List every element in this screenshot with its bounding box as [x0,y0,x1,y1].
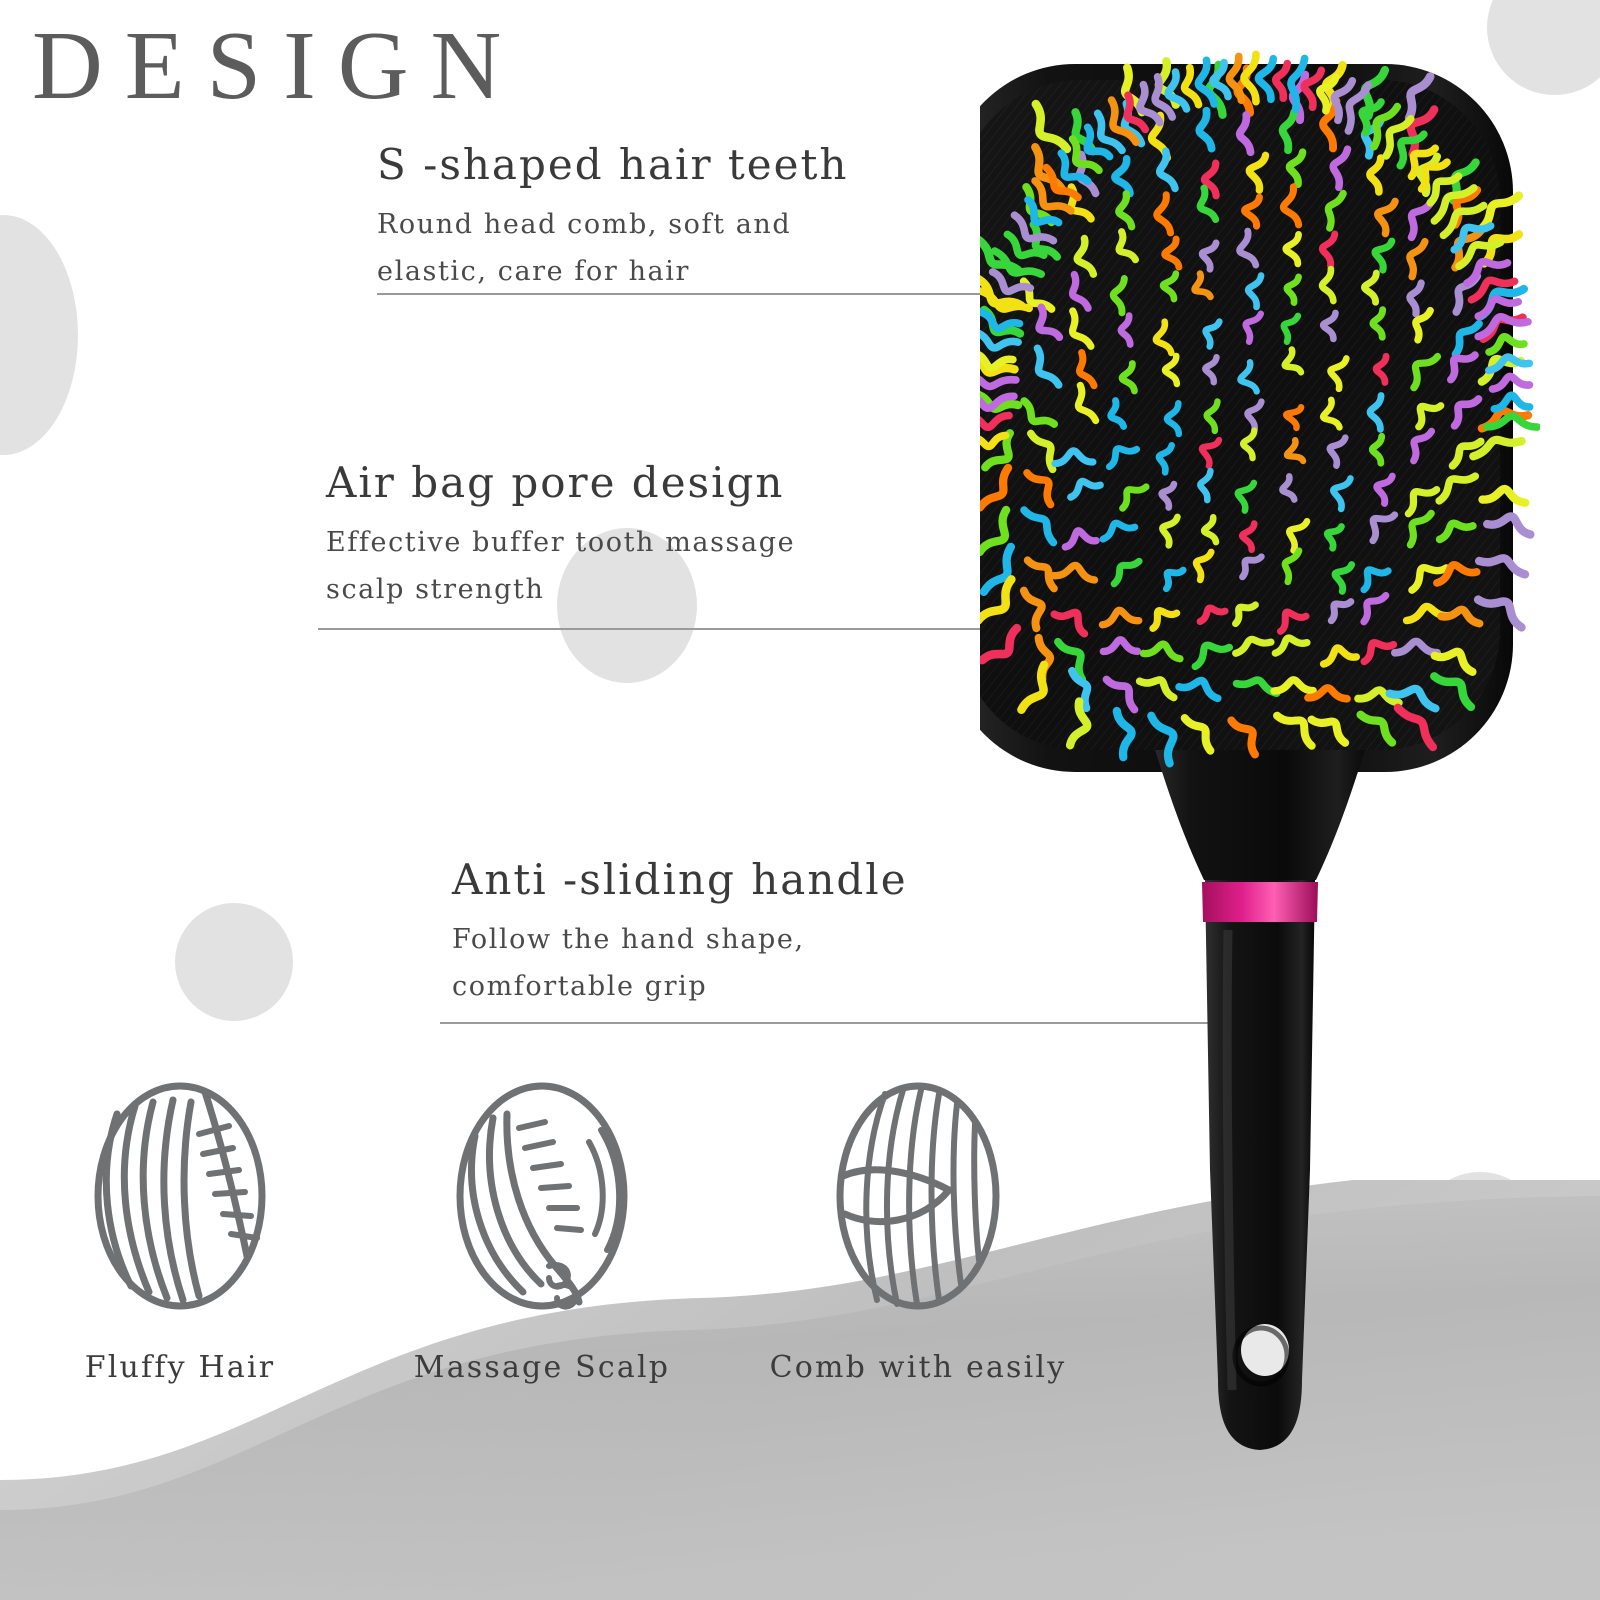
fluffy-hair-icon [87,1078,273,1314]
feature-block-anti-sliding-handle: Anti -sliding handle Follow the hand sha… [452,855,908,1010]
page-title: DESIGN [32,17,523,115]
benefit-label: Fluffy Hair [0,1350,360,1385]
comb-easily-icon [825,1078,1011,1314]
benefits-row: Fluffy Hair [0,1078,1160,1418]
handle-highlight [1227,930,1232,1390]
feature-block-air-bag-pore: Air bag pore design Effective buffer too… [326,458,795,613]
decorative-circle [175,903,293,1021]
feature-title: S -shaped hair teeth [377,140,848,189]
feature-title: Anti -sliding handle [452,855,908,904]
feature-description: Effective buffer tooth massage scalp str… [326,519,795,613]
brush-neck [1152,740,1368,880]
leader-line [318,628,1058,630]
feature-description: Follow the hand shape, comfortable grip [452,916,908,1010]
massage-scalp-icon [449,1078,635,1314]
benefit-label: Comb with easily [738,1350,1098,1385]
benefit-item[interactable]: Comb with easily [738,1078,1098,1385]
infographic-canvas: DESIGN S -shaped hair teeth Round head c… [0,0,1600,1600]
benefit-label: Massage Scalp [362,1350,722,1385]
leader-line [377,293,1037,295]
feature-description: Round head comb, soft and elastic, care … [377,201,848,295]
decorative-circle [0,215,78,455]
feature-title: Air bag pore design [326,458,795,507]
feature-block-s-shaped-teeth: S -shaped hair teeth Round head comb, so… [377,140,848,295]
benefit-item[interactable]: Fluffy Hair [0,1078,360,1385]
benefit-item[interactable]: Massage Scalp [362,1078,722,1385]
handle-accent-ring [1202,882,1318,922]
